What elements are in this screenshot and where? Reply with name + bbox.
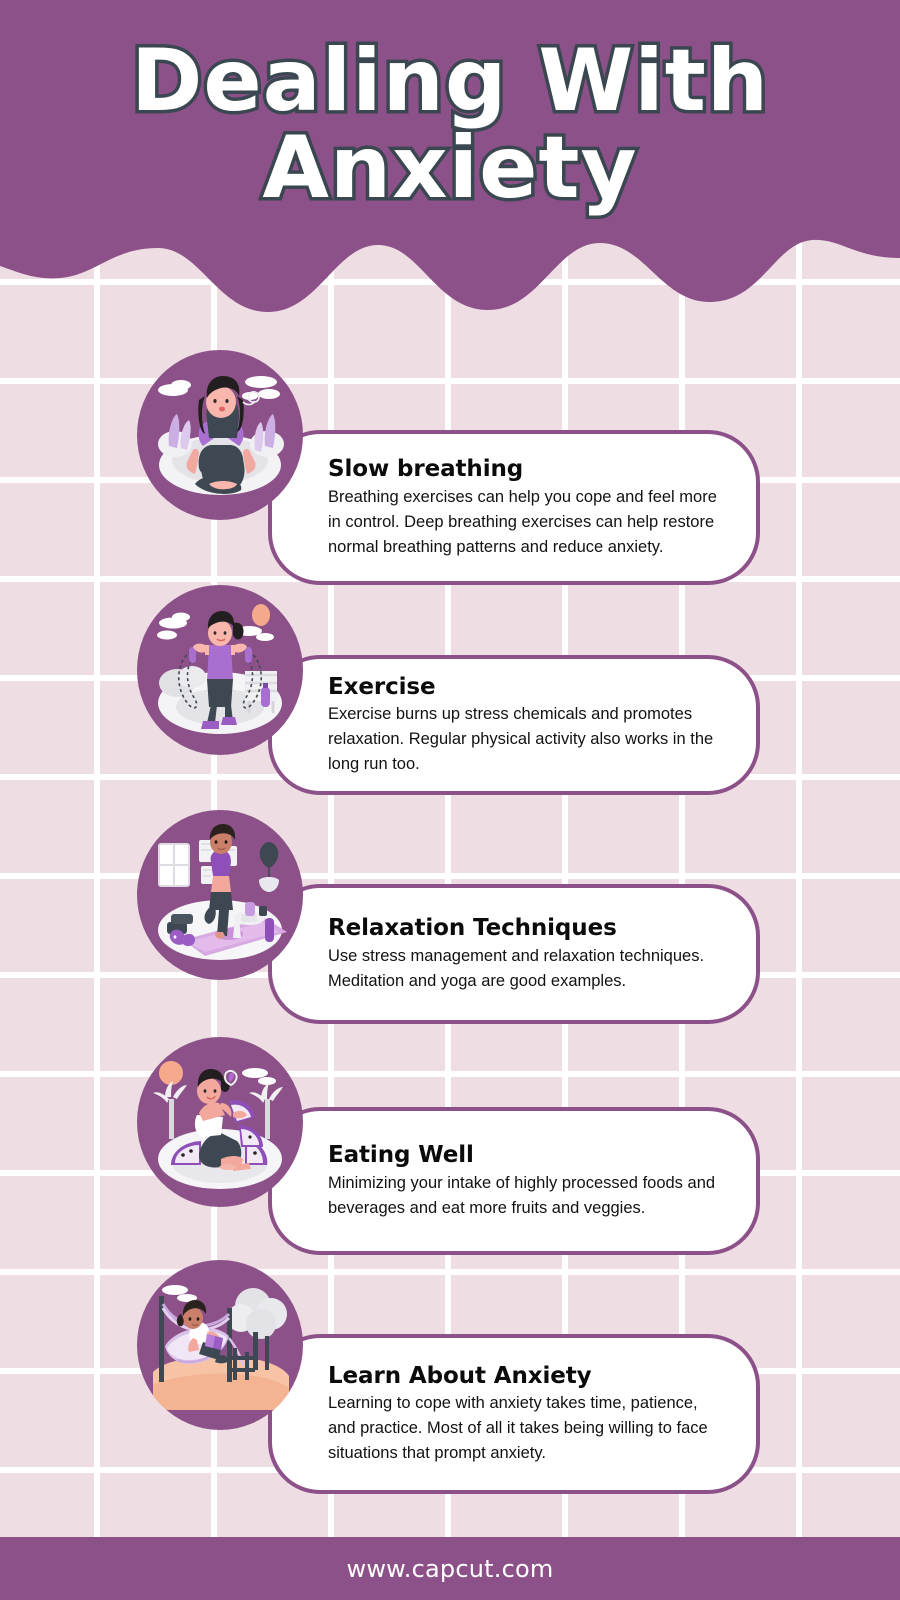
tip-card-3[interactable]: Relaxation Techniques Use stress managem…	[268, 884, 760, 1024]
tip-body: Breathing exercises can help you cope an…	[328, 485, 722, 560]
footer-bar: www.capcut.com	[0, 1537, 900, 1600]
tip-row-2: Exercise Exercise burns up stress chemic…	[0, 583, 900, 823]
woman-meditating-lotus-pose-icon	[137, 350, 303, 520]
woman-reading-in-hammock-icon	[137, 1260, 303, 1430]
learn-illustration	[137, 1260, 303, 1430]
tip-row-3: Relaxation Techniques Use stress managem…	[0, 808, 900, 1048]
yoga-illustration	[137, 810, 303, 980]
exercise-illustration	[137, 585, 303, 755]
tip-card-4[interactable]: Eating Well Minimizing your intake of hi…	[268, 1107, 760, 1255]
meditation-illustration	[137, 350, 303, 520]
woman-jumping-rope-icon	[137, 585, 303, 755]
tip-body: Minimizing your intake of highly process…	[328, 1171, 722, 1221]
tip-row-4: Eating Well Minimizing your intake of hi…	[0, 1035, 900, 1275]
infographic-poster: Dealing With Anxiety	[0, 0, 900, 1600]
poster-title: Dealing With Anxiety	[0, 0, 900, 250]
title-line-1: Dealing With	[131, 39, 769, 124]
tip-body: Use stress management and relaxation tec…	[328, 944, 722, 994]
woman-eating-watermelon-icon	[137, 1037, 303, 1207]
tip-row-5: Learn About Anxiety Learning to cope wit…	[0, 1258, 900, 1508]
tip-card-2[interactable]: Exercise Exercise burns up stress chemic…	[268, 655, 760, 795]
tip-card-1[interactable]: Slow breathing Breathing exercises can h…	[268, 430, 760, 585]
tip-body: Learning to cope with anxiety takes time…	[328, 1391, 722, 1466]
tip-title: Relaxation Techniques	[328, 914, 722, 943]
tip-title: Exercise	[328, 673, 722, 702]
tip-title: Eating Well	[328, 1141, 722, 1170]
title-line-2: Anxiety	[262, 126, 637, 211]
tip-body: Exercise burns up stress chemicals and p…	[328, 702, 722, 777]
eating-well-illustration	[137, 1037, 303, 1207]
tip-title: Learn About Anxiety	[328, 1362, 722, 1391]
tip-row-1: Slow breathing Breathing exercises can h…	[0, 348, 900, 588]
tip-card-5[interactable]: Learn About Anxiety Learning to cope wit…	[268, 1334, 760, 1494]
tip-title: Slow breathing	[328, 455, 722, 484]
footer-url[interactable]: www.capcut.com	[347, 1555, 554, 1583]
woman-doing-yoga-tree-pose-icon	[137, 810, 303, 980]
